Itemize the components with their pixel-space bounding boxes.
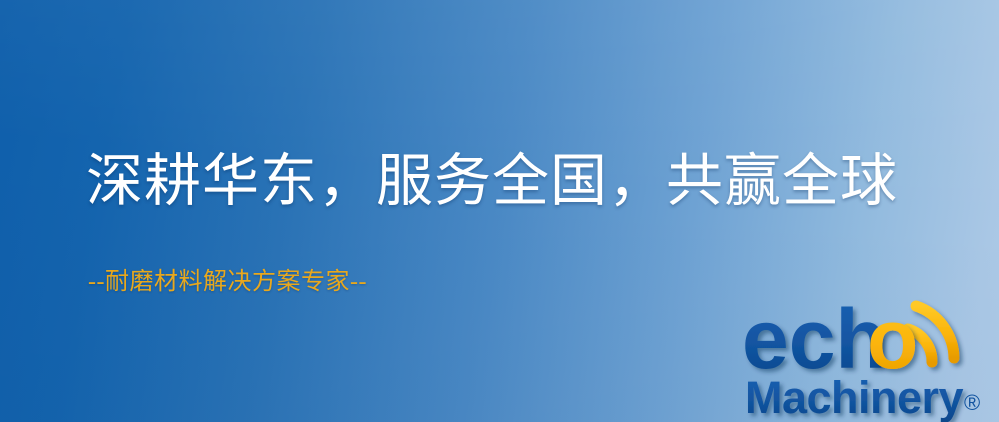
hero-banner: 深耕华东，服务全国，共赢全球 --耐磨材料解决方案专家-- xyxy=(0,0,999,422)
registered-trademark-icon: ® xyxy=(964,390,980,415)
logo-tagline: Machinery xyxy=(745,372,964,422)
brand-logo[interactable]: ech o Machinery ® xyxy=(742,296,999,422)
page-title: 深耕华东，服务全国，共赢全球 xyxy=(86,152,898,212)
page-subtitle: --耐磨材料解决方案专家-- xyxy=(88,268,367,297)
